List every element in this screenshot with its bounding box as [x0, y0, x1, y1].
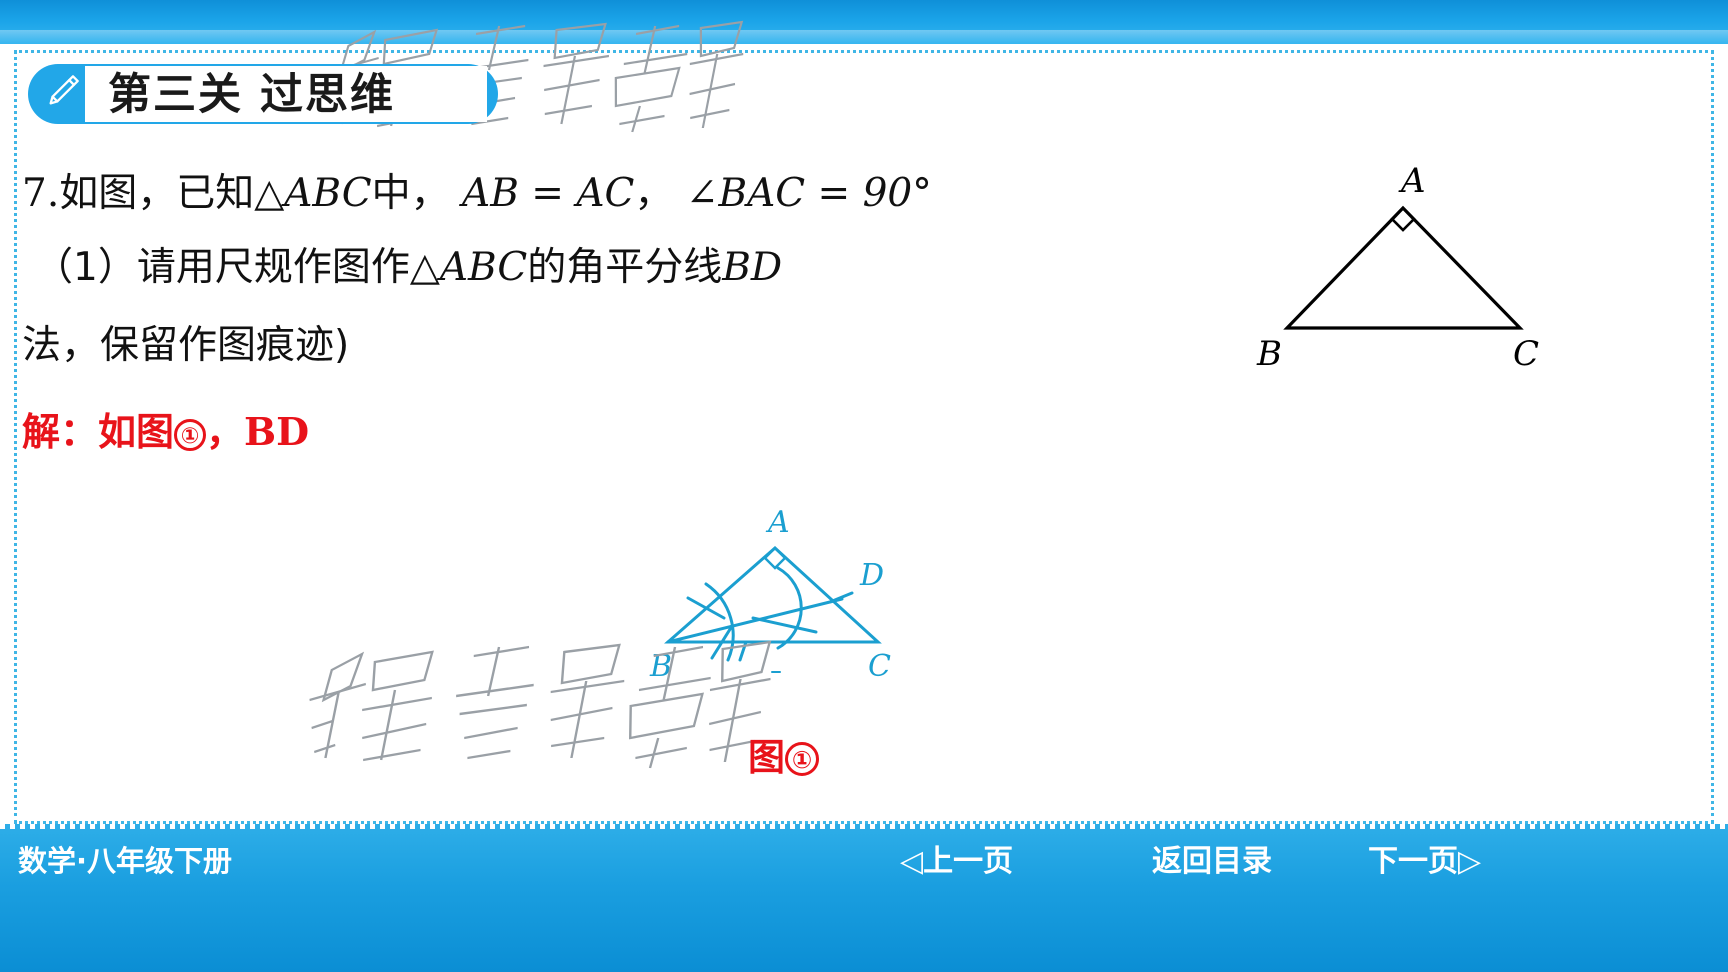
answer-segment: BD	[244, 409, 309, 454]
answer-prefix: 解：如图	[22, 410, 174, 454]
triangle-outline	[1287, 208, 1520, 328]
problem-line-3: 法，保留作图痕迹)	[22, 322, 349, 370]
pencil-icon	[44, 72, 82, 110]
problem-line2-segment: BD	[722, 245, 782, 290]
vertex-label-a: A	[1398, 161, 1426, 201]
answer-circled-number: ①	[174, 419, 206, 451]
construction-label-b: B	[649, 649, 672, 684]
top-banner-shine	[0, 30, 1728, 44]
answer-line: 解：如图①，BD	[22, 408, 309, 456]
problem-line1-eq1: AB = AC	[462, 171, 634, 216]
problem-line1-triangle: △ABC	[254, 171, 371, 216]
problem-line1-pre: 如图，已知	[59, 171, 254, 216]
top-banner-bar	[0, 0, 1728, 44]
problem-line2-pre: （1）请用尺规作图作	[34, 245, 410, 290]
construction-label-d: D	[859, 558, 884, 593]
slide-root: 第三关 过思维 7.如图，已知△ABC中， AB = AC， ∠BAC = 90…	[0, 0, 1728, 972]
compass-arc-cross-2	[753, 618, 816, 632]
right-angle-mark	[1392, 208, 1414, 230]
perpendicular-tick	[740, 642, 746, 660]
problem-line1-mid: 中，	[372, 171, 450, 216]
problem-line2-mid: 的角平分线	[527, 245, 722, 290]
problem-line1-eq2: ∠BAC = 90°	[686, 171, 932, 216]
footer-dotted-divider	[0, 824, 1728, 829]
problem-line-1: 7.如图，已知△ABC中， AB = AC， ∠BAC = 90°	[22, 170, 932, 218]
problem-line-2: （1）请用尺规作图作△ABC的角平分线BD	[34, 244, 782, 292]
problem-line2-triangle: △ABC	[410, 245, 527, 290]
arc-tick-1	[688, 598, 724, 618]
section-title: 第三关 过思维	[108, 70, 395, 120]
vertex-label-c: C	[1513, 334, 1539, 374]
construction-right-angle-mark	[765, 548, 785, 568]
figure-triangle-abc-construction: A D B C	[620, 490, 980, 710]
figure-caption-text: 图	[748, 736, 785, 779]
figure-caption: 图①	[748, 727, 819, 781]
construction-label-a: A	[765, 505, 790, 540]
footer-brand-label: 数学·八年级下册	[18, 838, 232, 880]
figure-caption-circled-number: ①	[785, 742, 819, 776]
figure-triangle-abc-plain: A B C	[1215, 150, 1595, 390]
vertex-label-b: B	[1256, 334, 1282, 374]
next-page-button[interactable]: 下一页▷	[1368, 836, 1481, 880]
prev-page-button[interactable]: ◁上一页	[900, 836, 1013, 880]
problem-line1-comma: ，	[634, 171, 673, 216]
answer-comma: ，	[206, 410, 244, 454]
problem-number: 7.	[22, 171, 59, 216]
construction-label-c: C	[868, 649, 891, 684]
back-to-contents-button[interactable]: 返回目录	[1152, 836, 1272, 880]
compass-arc-cross-1	[778, 568, 801, 648]
